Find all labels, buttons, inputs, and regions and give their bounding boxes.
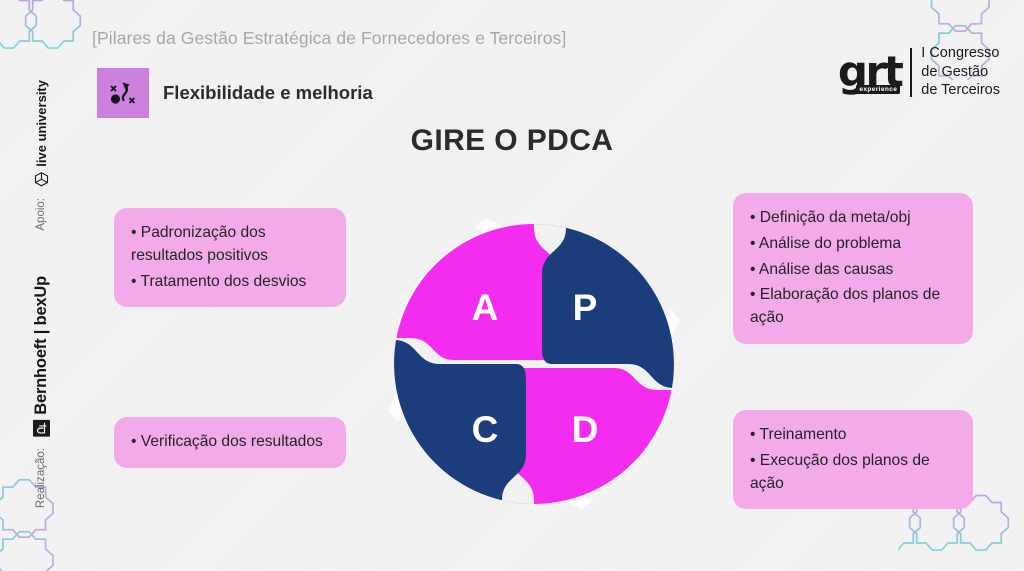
rail-apoio-caption: Apoio: xyxy=(35,198,47,231)
logo-divider xyxy=(910,48,912,97)
rail-realizacao-brand: Bernhoeft | bexUp xyxy=(32,276,51,437)
grt-experience-tag: experience xyxy=(856,85,900,94)
callout-plan-line-4: • Elaboração dos planos de ação xyxy=(750,284,956,330)
callout-plan: • Definição da meta/obj • Análise do pro… xyxy=(733,193,973,344)
pdca-quadrants xyxy=(394,224,674,504)
pdca-letter-d: D xyxy=(572,409,599,450)
bernhoeft-mark-icon xyxy=(33,420,50,437)
congress-line-1: I Congresso xyxy=(921,44,1000,63)
page-title: GIRE O PDCA xyxy=(0,124,1024,158)
pdca-wheel-diagram: A P C D xyxy=(362,192,706,536)
callout-act: • Padronização dos resultados positivos … xyxy=(114,208,346,307)
congress-line-3: de Terceiros xyxy=(921,81,1000,100)
congress-line-2: de Gestão xyxy=(921,63,1000,82)
grt-wordmark: grt experience xyxy=(838,53,901,91)
callout-act-line-2: • Tratamento dos desvios xyxy=(131,271,329,294)
slide-canvas: [Pilares da Gestão Estratégica de Fornec… xyxy=(0,0,1024,571)
breadcrumb-bracket-title: [Pilares da Gestão Estratégica de Fornec… xyxy=(92,28,566,49)
pdca-quadrant-c xyxy=(394,340,534,504)
strategy-playbook-icon xyxy=(97,68,149,118)
pdca-quadrant-p xyxy=(534,224,674,388)
pdca-letter-p: P xyxy=(573,287,598,328)
callout-plan-line-1: • Definição da meta/obj xyxy=(750,207,956,230)
pillar-label: Flexibilidade e melhoria xyxy=(163,82,373,104)
callout-plan-line-2: • Análise do problema xyxy=(750,233,956,256)
callout-plan-line-3: • Análise das causas xyxy=(750,259,956,282)
grt-logo: grt experience I Congresso de Gestão de … xyxy=(838,44,1000,100)
pdca-letter-a: A xyxy=(472,287,499,328)
pdca-letter-c: C xyxy=(472,409,499,450)
callout-do-line-1: • Treinamento xyxy=(750,424,956,447)
pillar-heading: Flexibilidade e melhoria xyxy=(97,68,373,118)
rail-realizacao-caption: Realização: xyxy=(35,448,47,508)
callout-check: • Verificação dos resultados xyxy=(114,417,346,468)
callout-do: • Treinamento • Execução dos planos de a… xyxy=(733,410,973,509)
live-university-cube-icon xyxy=(34,172,49,187)
callout-act-line-1: • Padronização dos resultados positivos xyxy=(131,222,329,268)
corner-decoration-top-left xyxy=(0,0,104,79)
callout-check-line-1: • Verificação dos resultados xyxy=(131,431,329,454)
callout-do-line-2: • Execução dos planos de ação xyxy=(750,450,956,496)
congress-title: I Congresso de Gestão de Terceiros xyxy=(921,44,1000,100)
